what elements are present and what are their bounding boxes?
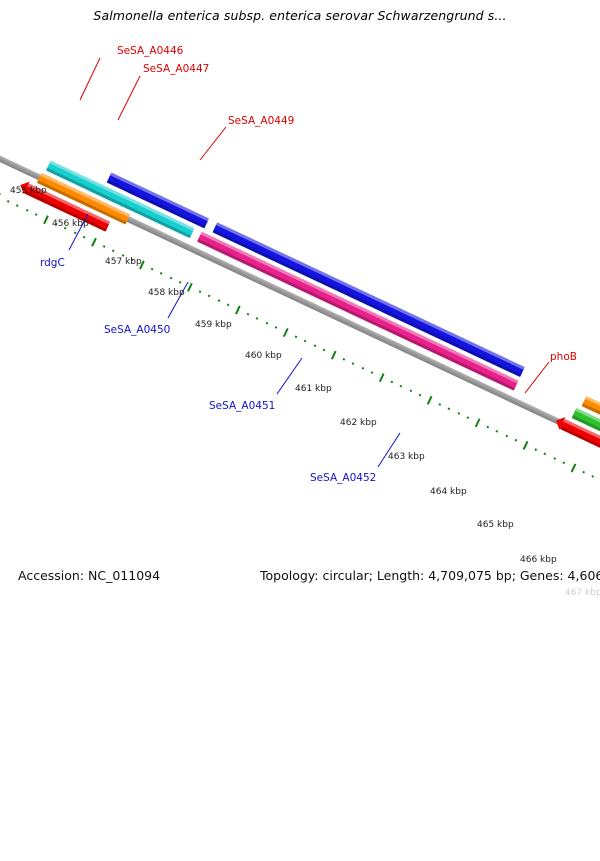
- ruler-label-8: 463 kbp: [388, 452, 425, 462]
- ruler-minor-tick: [448, 407, 451, 410]
- ruler-minor-tick: [7, 200, 10, 203]
- ruler-minor-tick: [544, 453, 547, 456]
- ruler-minor-tick: [294, 335, 297, 338]
- ruler-minor-tick: [553, 457, 556, 460]
- ruler-major-tick: [43, 215, 49, 224]
- ruler-minor-tick: [102, 245, 105, 248]
- ruler-minor-tick: [419, 394, 422, 397]
- ruler-major-tick: [91, 238, 97, 247]
- ruler-minor-tick: [35, 213, 38, 216]
- ruler-minor-tick: [275, 326, 278, 329]
- accession-text: Accession: NC_011094: [18, 568, 160, 583]
- feature-shadow: [560, 426, 600, 459]
- feature-body: [197, 232, 518, 391]
- ruler-minor-tick: [390, 380, 393, 383]
- gene-label-sesa_a0446[interactable]: SeSA_A0446: [117, 45, 183, 57]
- ruler-minor-tick: [170, 277, 173, 280]
- ruler-minor-tick: [198, 290, 201, 293]
- ruler-major-tick: [523, 441, 529, 450]
- feature-highlight: [216, 222, 525, 369]
- ruler-minor-tick: [505, 435, 508, 438]
- ruler-minor-tick: [409, 389, 412, 392]
- ruler-minor-tick: [313, 344, 316, 347]
- ruler-minor-tick: [266, 322, 269, 325]
- ruler-minor-tick: [457, 412, 460, 415]
- ruler-label-5: 460 kbp: [245, 351, 282, 361]
- gene-label-sesa_a0447[interactable]: SeSA_A0447: [143, 63, 209, 75]
- ruler-major-tick: [427, 396, 433, 405]
- ruler-minor-tick: [496, 430, 499, 433]
- ruler-minor-tick: [563, 462, 566, 465]
- ruler-minor-tick: [112, 250, 115, 253]
- leader-line: [118, 76, 140, 120]
- page-title: Salmonella enterica subsp. enterica sero…: [0, 8, 600, 23]
- gene-label-rdgc[interactable]: rdgC: [40, 257, 65, 269]
- ruler-minor-tick: [371, 371, 374, 374]
- ruler-minor-tick: [256, 317, 259, 320]
- ruler-minor-tick: [83, 236, 86, 239]
- ruler-label-10: 465 kbp: [477, 520, 514, 530]
- ruler-major-tick: [283, 328, 289, 337]
- ruler-minor-tick: [592, 475, 595, 478]
- ruler-major-tick: [235, 305, 241, 314]
- ruler-minor-tick: [150, 268, 153, 271]
- ruler-minor-tick: [16, 204, 19, 207]
- ruler-minor-tick: [486, 426, 489, 429]
- leader-line: [525, 362, 549, 393]
- gene-label-sesa_a0451[interactable]: SeSA_A0451: [209, 400, 275, 412]
- ruler-minor-tick: [26, 209, 29, 212]
- ruler-major-tick: [0, 193, 1, 202]
- ruler-major-tick: [571, 463, 577, 472]
- ruler-minor-tick: [304, 340, 307, 343]
- genome-viewer-canvas[interactable]: Salmonella enterica subsp. enterica sero…: [0, 0, 600, 600]
- genome-backbone-line: [0, 33, 600, 566]
- ruler-minor-tick: [246, 313, 249, 316]
- ruler-minor-tick: [160, 272, 163, 275]
- ruler-minor-tick: [218, 299, 221, 302]
- gene-magenta-0452[interactable]: [197, 232, 518, 391]
- ruler-minor-tick: [361, 367, 364, 370]
- ruler-minor-tick: [438, 403, 441, 406]
- ruler-major-tick: [331, 351, 337, 360]
- ruler-label-6: 461 kbp: [295, 384, 332, 394]
- gene-label-sesa_a0450[interactable]: SeSA_A0450: [104, 324, 170, 336]
- gene-label-phob[interactable]: phoB: [550, 351, 577, 363]
- leader-line: [80, 58, 100, 100]
- ruler-minor-tick: [74, 231, 77, 234]
- ruler-minor-tick: [515, 439, 518, 442]
- ruler-minor-tick: [227, 304, 230, 307]
- leader-line: [200, 127, 226, 160]
- ruler-label-9: 464 kbp: [430, 487, 467, 497]
- feature-shadow: [197, 239, 515, 391]
- ruler-major-tick: [379, 373, 385, 382]
- status-bar: Accession: NC_011094 Topology: circular;…: [0, 568, 600, 600]
- ruler-minor-tick: [323, 349, 326, 352]
- ruler-label-2: 457 kbp: [105, 257, 142, 267]
- ruler-major-tick: [187, 283, 193, 292]
- ruler-minor-tick: [534, 448, 537, 451]
- ruler-major-tick: [475, 418, 481, 427]
- ruler-minor-tick: [400, 385, 403, 388]
- ruler-label-11: 466 kbp: [520, 555, 557, 565]
- ruler-minor-tick: [342, 358, 345, 361]
- ruler-minor-tick: [582, 471, 585, 474]
- ruler-minor-tick: [179, 281, 182, 284]
- ruler-label-7: 462 kbp: [340, 418, 377, 428]
- ruler-label-4: 459 kbp: [195, 320, 232, 330]
- ruler-label-1: 456 kbp: [52, 219, 89, 229]
- gene-label-sesa_a0452[interactable]: SeSA_A0452: [310, 472, 376, 484]
- ruler-label-0: 455 kbp: [10, 186, 47, 196]
- ruler-minor-tick: [352, 362, 355, 365]
- topology-text: Topology: circular; Length: 4,709,075 bp…: [260, 568, 600, 583]
- ruler-minor-tick: [208, 295, 211, 298]
- gene-label-sesa_a0449[interactable]: SeSA_A0449: [228, 115, 294, 127]
- ruler-label-3: 458 kbp: [148, 288, 185, 298]
- ruler-minor-tick: [467, 417, 470, 420]
